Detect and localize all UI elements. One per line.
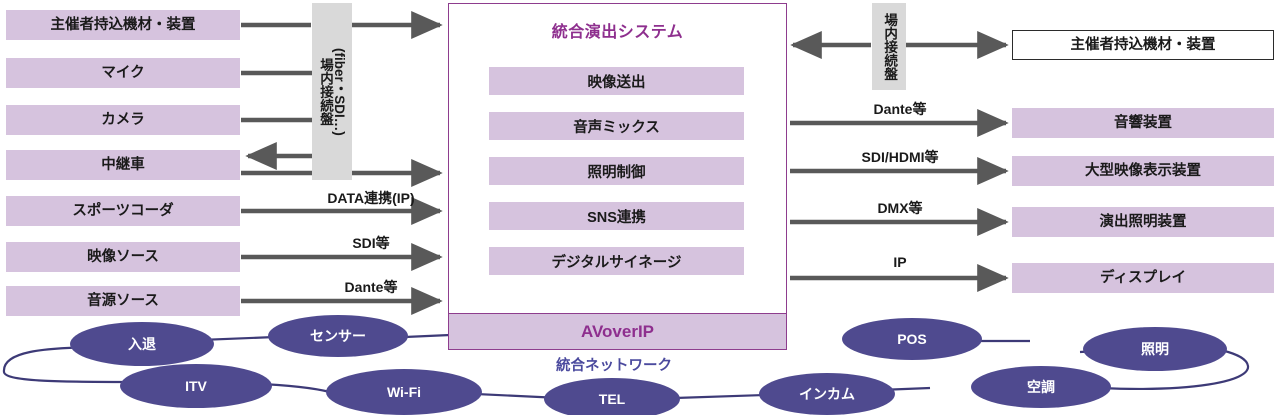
right-patch-panel-title: 場内接続盤: [882, 13, 896, 81]
left-source-label-1: 主催者持込機材・装置: [51, 17, 196, 34]
left-source-label-3: カメラ: [101, 112, 145, 129]
network-node-ellipse: [971, 366, 1111, 408]
left-patch-panel-title: 場内接続盤: [318, 58, 332, 126]
left-source-label-4: 中継車: [101, 157, 145, 174]
center-module-5[interactable]: デジタルサイネージ: [489, 247, 744, 275]
right-connection-label-2: SDI/HDMI等: [810, 147, 990, 167]
right-destination-label-3: 大型映像表示装置: [1085, 163, 1201, 180]
center-module-label-2: 音声ミックス: [573, 116, 660, 137]
right-connection-label-4: IP: [810, 254, 990, 270]
network-node-ellipse: [326, 369, 482, 415]
network-label: 統合ネットワーク: [556, 354, 672, 375]
network-node-4[interactable]: Wi-Fi: [326, 369, 482, 415]
left-source-label-5: スポーツコーダ: [72, 203, 173, 220]
center-panel-title: 統合演出システム: [449, 18, 786, 42]
left-source-label-7: 音源ソース: [87, 293, 159, 310]
left-connection-label-2: SDI等: [286, 233, 456, 253]
network-node-2[interactable]: センサー: [268, 315, 408, 357]
center-module-1[interactable]: 映像送出: [489, 67, 744, 95]
left-source-box-3[interactable]: カメラ: [6, 105, 240, 135]
left-source-box-5[interactable]: スポーツコーダ: [6, 196, 240, 226]
center-module-label-5: デジタルサイネージ: [552, 251, 682, 272]
center-module-3[interactable]: 照明制御: [489, 157, 744, 185]
network-node-8[interactable]: 空調: [971, 366, 1111, 408]
network-node-6[interactable]: インカム: [759, 373, 895, 415]
network-node-ellipse: [1083, 327, 1227, 371]
left-patch-panel-sub: (fiber・SDI…): [332, 48, 346, 136]
network-node-ellipse: [759, 373, 895, 415]
left-connection-label-3: Dante等: [286, 277, 456, 297]
right-patch-panel[interactable]: 場内接続盤: [872, 3, 906, 90]
left-source-box-6[interactable]: 映像ソース: [6, 242, 240, 272]
network-node-9[interactable]: 照明: [1083, 327, 1227, 371]
right-destination-label-5: ディスプレイ: [1100, 270, 1186, 287]
right-destination-box-1[interactable]: 主催者持込機材・装置: [1012, 30, 1274, 60]
network-node-label: インカム: [799, 386, 855, 402]
right-destination-box-2[interactable]: 音響装置: [1012, 108, 1274, 138]
avoverip-label: AVoverIP: [581, 322, 654, 342]
network-node-ellipse: [70, 322, 214, 366]
network-node-label: TEL: [599, 391, 626, 407]
center-module-2[interactable]: 音声ミックス: [489, 112, 744, 140]
right-destination-label-4: 演出照明装置: [1100, 214, 1187, 231]
network-node-ellipse: [268, 315, 408, 357]
left-source-box-2[interactable]: マイク: [6, 58, 240, 88]
network-node-3[interactable]: ITV: [120, 364, 272, 408]
left-source-label-6: 映像ソース: [87, 249, 159, 266]
right-destination-box-3[interactable]: 大型映像表示装置: [1012, 156, 1274, 186]
center-module-label-3: 照明制御: [588, 161, 646, 182]
center-module-label-4: SNS連携: [587, 206, 646, 227]
center-module-4[interactable]: SNS連携: [489, 202, 744, 230]
right-destination-label-1: 主催者持込機材・装置: [1071, 37, 1216, 54]
left-source-box-7[interactable]: 音源ソース: [6, 286, 240, 316]
right-destination-box-4[interactable]: 演出照明装置: [1012, 207, 1274, 237]
left-source-box-1[interactable]: 主催者持込機材・装置: [6, 10, 240, 40]
network-node-label: ITV: [185, 378, 207, 394]
avoverip-band[interactable]: AVoverIP: [449, 313, 786, 349]
diagram-canvas: 入退センサーITVWi-FiTELインカムPOS空調照明 主催者持込機材・装置 …: [0, 0, 1280, 415]
network-node-label: センサー: [310, 328, 366, 344]
left-source-label-2: マイク: [101, 65, 144, 82]
left-patch-panel[interactable]: (fiber・SDI…) 場内接続盤: [312, 3, 352, 180]
right-connection-label-3: DMX等: [810, 198, 990, 218]
network-node-ellipse: [544, 378, 680, 415]
network-node-ellipse: [842, 318, 982, 360]
right-connection-label-1: Dante等: [810, 99, 990, 119]
left-source-box-4[interactable]: 中継車: [6, 150, 240, 180]
center-module-label-1: 映像送出: [588, 71, 646, 92]
network-node-label: Wi-Fi: [387, 384, 421, 400]
network-node-7[interactable]: POS: [842, 318, 982, 360]
network-node-label: 照明: [1141, 341, 1169, 357]
network-node-ellipse: [120, 364, 272, 408]
network-node-label: 空調: [1027, 379, 1055, 395]
left-connection-label-1: DATA連携(IP): [286, 188, 456, 208]
network-node-label: 入退: [128, 336, 156, 352]
right-destination-box-5[interactable]: ディスプレイ: [1012, 263, 1274, 293]
network-node-label: POS: [897, 331, 927, 347]
network-node-5[interactable]: TEL: [544, 378, 680, 415]
right-destination-label-2: 音響装置: [1114, 115, 1172, 132]
network-node-1[interactable]: 入退: [70, 322, 214, 366]
integrated-production-system-panel[interactable]: 統合演出システム 映像送出 音声ミックス 照明制御 SNS連携 デジタルサイネー…: [448, 3, 787, 350]
